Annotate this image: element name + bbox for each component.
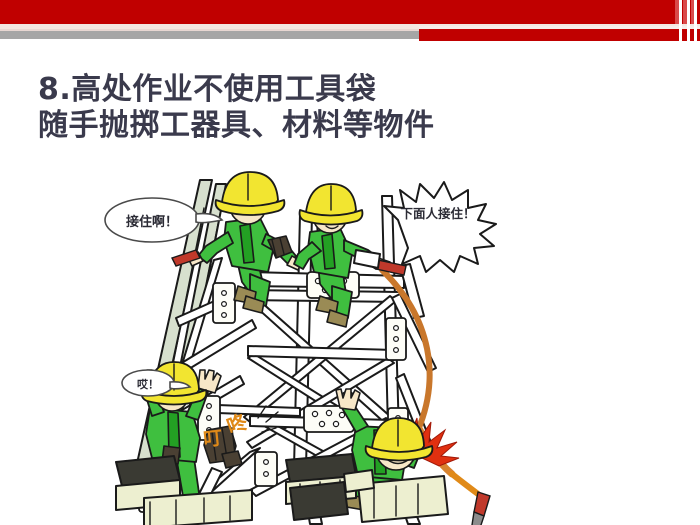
bubble-top-left-text: 接住啊！: [126, 214, 178, 230]
header-divider-line-2: [687, 0, 690, 46]
header-red-bar: [0, 0, 700, 24]
gusset-plate: [213, 283, 235, 323]
header-gray-bar: [0, 31, 419, 39]
bubble-bottom-left-text: 哎！: [137, 377, 159, 391]
illustration-transmission-tower: .ln{fill:none;stroke:#1A1A1A;stroke-widt…: [0, 168, 700, 525]
gusset-plate: [255, 452, 277, 486]
header-divider-line-1: [679, 0, 682, 46]
slide-title: 8.高处作业不使用工具袋 随手抛掷工器具、材料等物件: [38, 72, 598, 144]
slide-canvas: 8.高处作业不使用工具袋 随手抛掷工器具、材料等物件 .ln{fill:none…: [0, 0, 700, 525]
gusset-plate: [386, 318, 406, 360]
bubble-top-right: 下面人接住！: [384, 182, 496, 272]
sfx-char-2: 叮: [202, 427, 223, 451]
header-red-bar-right: [419, 29, 700, 41]
bubble-top-right-text: 下面人接住！: [400, 206, 475, 221]
falling-screwdriver: [470, 492, 490, 525]
slide-header-band: [0, 0, 700, 46]
header-divider-line-3: [694, 0, 697, 46]
